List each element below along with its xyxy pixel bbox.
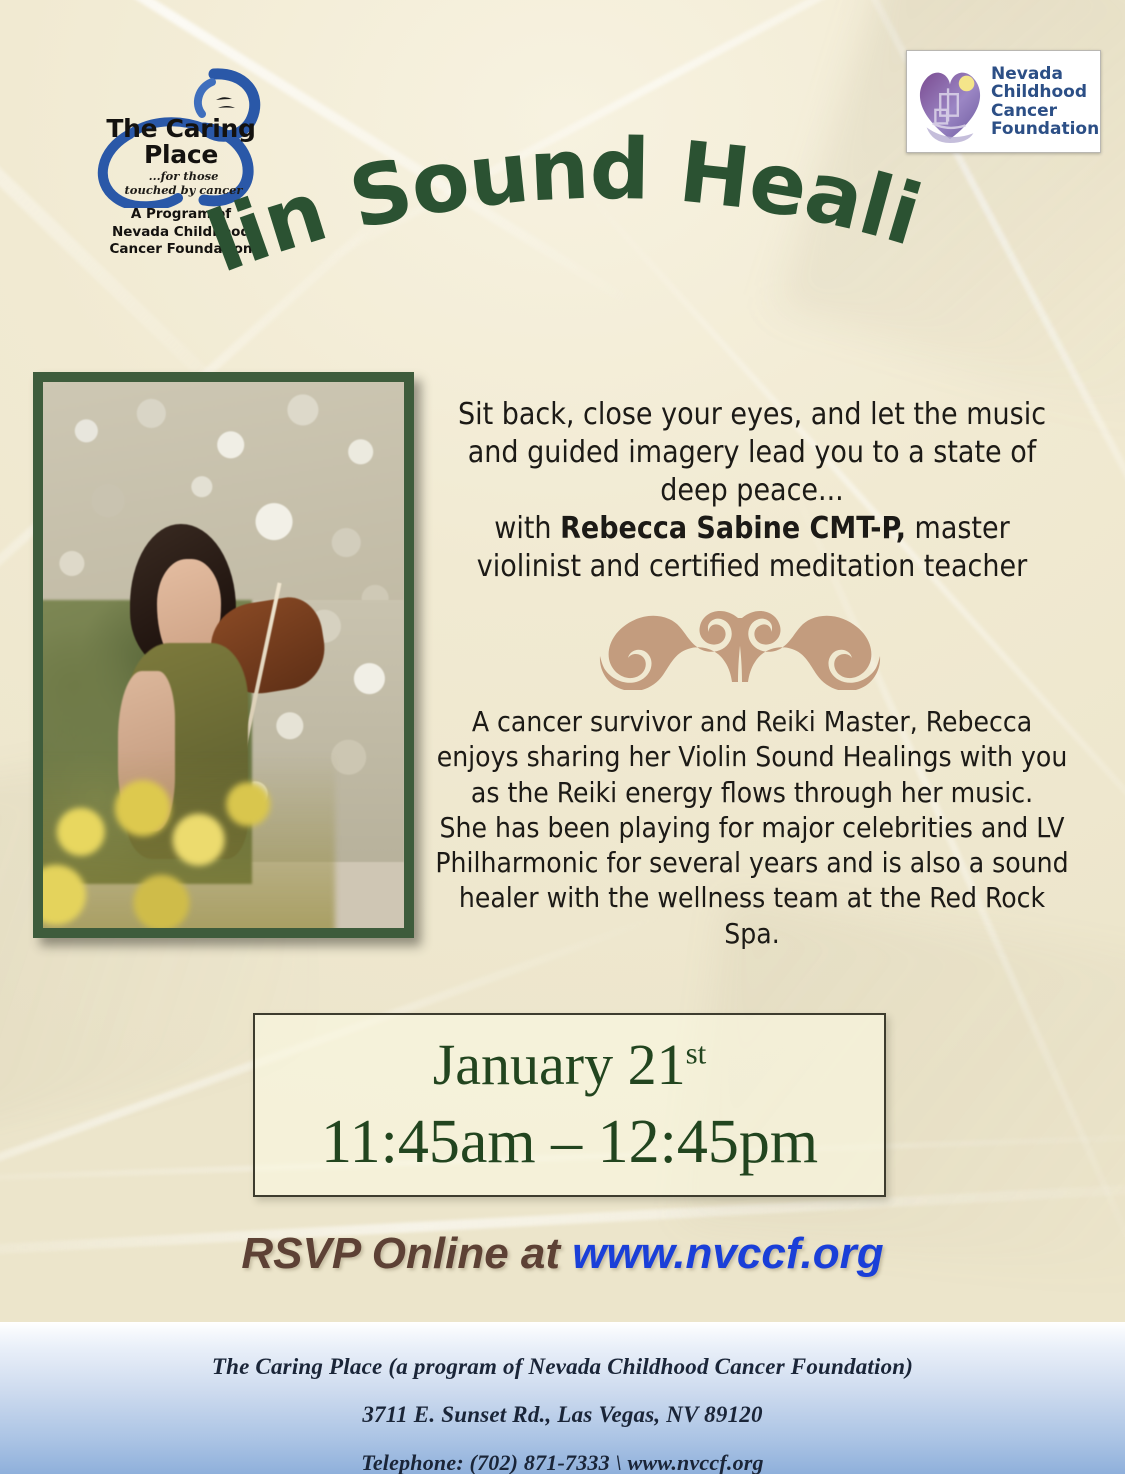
intro-paragraph: Sit back, close your eyes, and let the m…	[432, 396, 1072, 586]
bio-line-3: as the Reiki energy flows through her mu…	[471, 776, 1033, 809]
footer-org-line: The Caring Place (a program of Nevada Ch…	[0, 1354, 1125, 1380]
scroll-flourish-icon	[570, 604, 910, 690]
bio-line-2: enjoys sharing her Violin Sound Healings…	[437, 740, 1068, 773]
presenter-name: Rebecca Sabine CMT-P,	[560, 511, 906, 546]
flyer-poster: The Caring Place ...for those touched by…	[0, 0, 1125, 1474]
intro-line-1: Sit back, close your eyes, and let the m…	[458, 397, 1046, 432]
rsvp-line: RSVP Online at www.nvccf.org	[0, 1229, 1125, 1279]
footer-bar: The Caring Place (a program of Nevada Ch…	[0, 1322, 1125, 1474]
intro-line-2: and guided imagery lead you to a state o…	[468, 435, 1036, 470]
intro-line-4-suffix: master	[906, 511, 1010, 546]
event-date: January 21st	[255, 1031, 884, 1098]
rsvp-label: RSVP Online at	[241, 1229, 572, 1278]
footer-contact-line: Telephone: (702) 871-7333 \ www.nvccf.or…	[0, 1450, 1125, 1474]
violinist-photo	[33, 372, 414, 938]
event-date-text: January 21	[433, 1032, 686, 1097]
rsvp-url-link[interactable]: www.nvccf.org	[572, 1229, 883, 1278]
bio-line-1: A cancer survivor and Reiki Master, Rebe…	[472, 705, 1032, 738]
nccf-logo-text: Nevada Childhood Cancer Foundation	[991, 65, 1099, 138]
intro-line-4-prefix: with	[494, 511, 560, 546]
event-date-ordinal: st	[686, 1036, 707, 1071]
bio-line-6: healer with the wellness team at the Red…	[459, 881, 1045, 949]
intro-line-5: violinist and certified meditation teach…	[477, 549, 1027, 584]
intro-line-3: deep peace...	[660, 473, 844, 508]
bio-line-5: Philharmonic for several years and is al…	[435, 846, 1068, 879]
bio-line-4: She has been playing for major celebriti…	[440, 811, 1065, 844]
event-time: 11:45am – 12:45pm	[255, 1107, 884, 1178]
page-title: Violin Sound Healings	[205, 104, 945, 304]
event-datetime-box: January 21st 11:45am – 12:45pm	[253, 1013, 886, 1197]
bio-paragraph: A cancer survivor and Reiki Master, Rebe…	[432, 704, 1072, 951]
footer-address-line: 3711 E. Sunset Rd., Las Vegas, NV 89120	[0, 1402, 1125, 1428]
